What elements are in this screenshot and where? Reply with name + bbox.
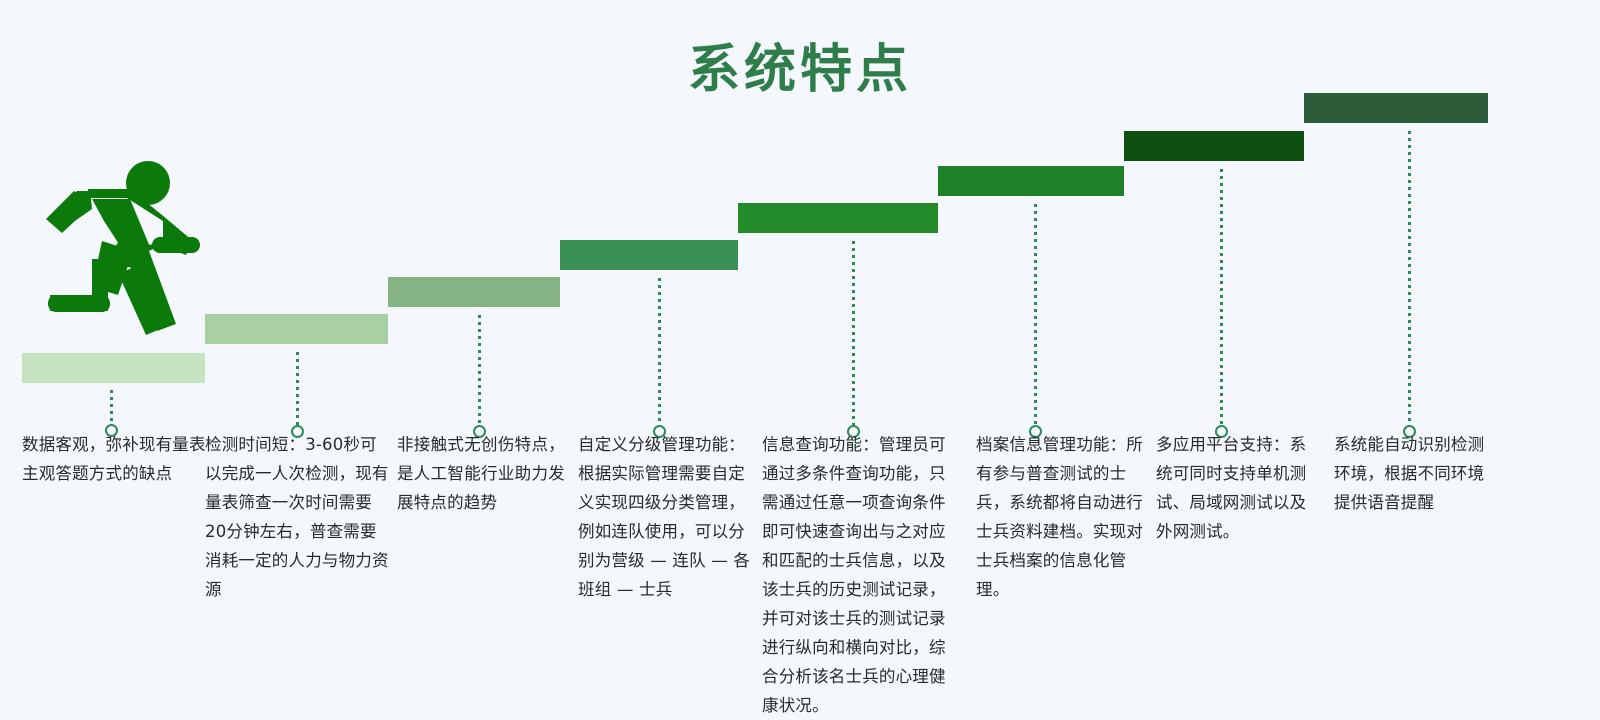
connector-line-3 <box>478 315 481 427</box>
step-caption-5: 信息查询功能：管理员可通过多条件查询功能，只需通过任意一项查询条件即可快速查询出… <box>762 430 954 720</box>
connector-dots-8 <box>1408 131 1411 427</box>
connector-line-6 <box>1034 204 1037 427</box>
connector-line-2 <box>296 352 299 427</box>
connector-dots-7 <box>1220 169 1223 427</box>
connector-dots-2 <box>296 352 299 427</box>
infographic-canvas: 系统特点 数据客观，弥补现有量表主观答题方式的缺点检测时间短：3-60秒可以完成… <box>0 0 1600 719</box>
step-caption-2: 检测时间短：3-60秒可以完成一人次检测，现有量表筛查一次时间需要20分钟左右，… <box>205 430 391 604</box>
page-title: 系统特点 <box>0 44 1600 96</box>
step-caption-6: 档案信息管理功能：所有参与普查测试的士兵，系统都将自动进行士兵资料建档。实现对士… <box>976 430 1146 604</box>
connector-line-5 <box>852 241 855 427</box>
connector-dots-3 <box>478 315 481 427</box>
stair-bar-8 <box>1304 93 1488 123</box>
connector-line-1 <box>110 390 113 426</box>
connector-dots-4 <box>658 278 661 427</box>
stair-bar-1 <box>22 353 205 383</box>
connector-line-7 <box>1220 169 1223 427</box>
connector-dots-1 <box>110 390 113 426</box>
connector-line-4 <box>658 278 661 427</box>
stair-bar-2 <box>205 314 388 344</box>
stair-bar-4 <box>560 240 738 270</box>
step-caption-1: 数据客观，弥补现有量表主观答题方式的缺点 <box>22 430 208 488</box>
stair-bar-6 <box>938 166 1124 196</box>
step-caption-3: 非接触式无创伤特点，是人工智能行业助力发展特点的趋势 <box>397 430 565 517</box>
connector-dots-5 <box>852 241 855 427</box>
step-caption-8: 系统能自动识别检测环境，根据不同环境提供语音提醒 <box>1334 430 1500 517</box>
step-caption-7: 多应用平台支持：系统可同时支持单机测试、局域网测试以及外网测试。 <box>1156 430 1318 546</box>
connector-dots-6 <box>1034 204 1037 427</box>
connector-line-8 <box>1408 131 1411 427</box>
stair-bar-7 <box>1124 131 1304 161</box>
stair-bar-3 <box>388 277 560 307</box>
step-caption-4: 自定义分级管理功能：根据实际管理需要自定义实现四级分类管理，例如连队使用，可以分… <box>578 430 756 604</box>
stair-bar-5 <box>738 203 938 233</box>
running-person-icon <box>30 155 200 340</box>
